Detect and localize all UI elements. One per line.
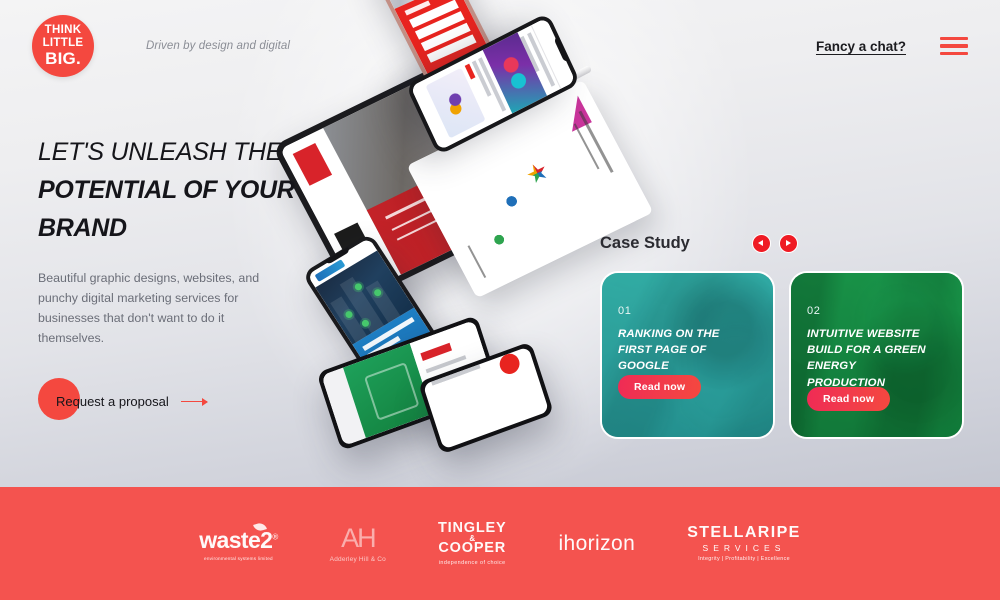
tablet2-badge-logo-a	[499, 190, 524, 214]
card-02-number: 02	[807, 305, 946, 317]
case-study-carousel-nav	[752, 234, 798, 253]
logo-line-3: BIG.	[45, 50, 81, 67]
prev-arrow-glyph	[758, 240, 763, 246]
card-02-body: 02 INTUITIVE WEBSITE BUILD FOR A GREEN E…	[791, 273, 962, 437]
hamburger-bar-2	[940, 44, 968, 48]
waste2-subtitle: environmental systems limited	[199, 556, 277, 561]
logo-think-little-big[interactable]: THINK LITTLE BIG.	[32, 15, 94, 77]
client-logo-stellaripe[interactable]: STELLARIPE SERVICES Integrity | Profitab…	[687, 525, 801, 563]
cta-label: Request a proposal	[56, 394, 169, 409]
hamburger-bar-3	[940, 52, 968, 56]
chevron-left-icon[interactable]	[752, 234, 771, 253]
case-study-card-02[interactable]: 02 INTUITIVE WEBSITE BUILD FOR A GREEN E…	[789, 271, 964, 439]
brand-tagline: Driven by design and digital	[146, 40, 290, 52]
case-study-card-01[interactable]: 01 RANKING ON THE FIRST PAGE OF GOOGLE R…	[600, 271, 775, 439]
landing-page: THINK LITTLE BIG. Driven by design and d…	[0, 0, 1000, 600]
logo-line-1: THINK	[45, 25, 82, 37]
card-01-heading: RANKING ON THE FIRST PAGE OF GOOGLE	[618, 326, 743, 375]
page-title: LET'S UNLEASH THE POTENTIAL OF YOUR BRAN…	[38, 136, 338, 244]
client-logo-ihorizon[interactable]: ihorizon	[558, 532, 635, 556]
hamburger-bar-1	[940, 37, 968, 41]
card-02-read-now-button[interactable]: Read now	[807, 387, 890, 411]
hero-paragraph: Beautiful graphic designs, websites, and…	[38, 268, 286, 348]
phone4-red-block	[420, 343, 452, 361]
hero-section: LET'S UNLEASH THE POTENTIAL OF YOUR BRAN…	[38, 136, 338, 424]
header-actions: Fancy a chat?	[816, 37, 968, 56]
hamburger-menu-icon[interactable]	[940, 37, 968, 56]
card-01-number: 01	[618, 305, 757, 317]
brand-block[interactable]: THINK LITTLE BIG. Driven by design and d…	[32, 15, 290, 77]
case-study-header: Case Study	[600, 228, 970, 258]
client-logo-adderley-hill[interactable]: AH Adderley Hill & Co	[330, 525, 386, 563]
tablet2-vertical-text-2	[573, 124, 599, 170]
next-arrow-glyph	[786, 240, 791, 246]
card-01-body: 01 RANKING ON THE FIRST PAGE OF GOOGLE	[602, 273, 773, 437]
stellaripe-line-1: STELLARIPE	[687, 525, 801, 542]
fancy-a-chat-link[interactable]: Fancy a chat?	[816, 39, 906, 54]
site-header: THINK LITTLE BIG. Driven by design and d…	[0, 0, 1000, 92]
case-study-card-list: 01 RANKING ON THE FIRST PAGE OF GOOGLE R…	[600, 271, 970, 439]
headline-line-3: BRAND	[38, 212, 338, 244]
arrow-right-icon	[181, 401, 207, 403]
adderley-hill-subtitle: Adderley Hill & Co	[330, 556, 386, 563]
headline-line-2: POTENTIAL OF YOUR	[38, 174, 338, 206]
headline-line-1: LET'S UNLEASH THE	[38, 136, 338, 168]
stellaripe-line-2: SERVICES	[687, 543, 801, 553]
waste2-wordmark: waste2®	[199, 527, 277, 554]
logo-line-2: LITTLE	[43, 38, 84, 50]
adderley-hill-monogram: AH	[330, 525, 386, 552]
chevron-right-icon[interactable]	[779, 234, 798, 253]
tablet2-vertical-text-3	[467, 245, 486, 278]
client-logo-waste2[interactable]: waste2® environmental systems limited	[199, 527, 277, 561]
ihorizon-wordmark: ihorizon	[558, 532, 635, 556]
card-01-read-now-button[interactable]: Read now	[618, 375, 701, 399]
stellaripe-subtitle: Integrity | Profitability | Excellence	[687, 556, 801, 562]
tablet2-badge-logo-b	[488, 229, 510, 250]
request-a-proposal-button[interactable]: Request a proposal	[38, 378, 218, 424]
client-logo-bar: waste2® environmental systems limited AH…	[0, 487, 1000, 600]
case-study-section: Case Study 01 RANKING ON THE FIRST PAGE …	[600, 228, 970, 439]
tablet2-star-logo	[524, 160, 551, 186]
tingley-line-2: COOPER	[438, 541, 506, 556]
case-study-title: Case Study	[600, 234, 690, 253]
client-logo-tingley-cooper[interactable]: TINGLEY & COOPER independence of choice	[438, 521, 506, 565]
phone5-red-circle	[497, 351, 522, 377]
tingley-subtitle: independence of choice	[438, 560, 506, 566]
waste2-registered-mark: ®	[272, 532, 277, 541]
